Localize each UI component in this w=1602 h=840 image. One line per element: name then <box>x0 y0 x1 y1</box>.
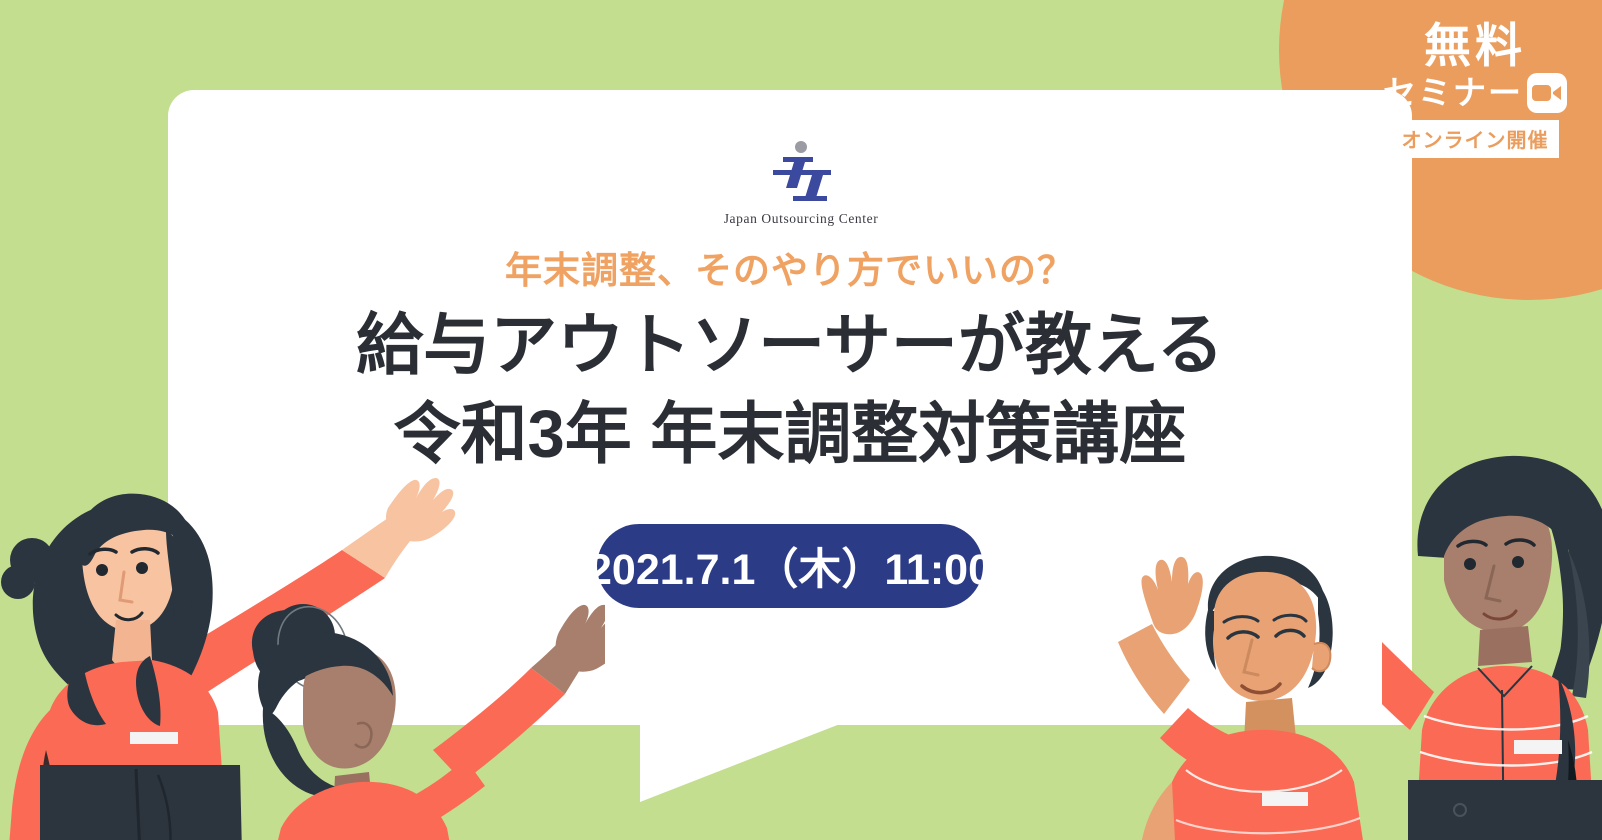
headline-block: 年末調整、そのやり方でいいの？ 給与アウトソーサーが教える 令和3年 年末調整対… <box>168 248 1412 479</box>
kicker-text: 年末調整、そのやり方でいいの？ <box>168 248 1412 294</box>
seminar-row: セミナー <box>1370 73 1580 113</box>
title-line-2: 令和3年 年末調整対策講座 <box>168 391 1412 479</box>
title-line-1: 給与アウトソーサーが教える <box>168 302 1412 390</box>
logo: Japan Outsourcing Center <box>0 140 1602 227</box>
background-green-left <box>0 0 168 840</box>
seminar-label: セミナー <box>1383 75 1523 111</box>
event-datetime-label: 2021.7.1（木）11:00 <box>588 535 992 597</box>
speech-bubble-tail <box>640 724 840 802</box>
event-datetime-pill: 2021.7.1（木）11:00 <box>597 524 983 608</box>
online-event-label: オンライン開催 <box>1392 120 1559 158</box>
video-camera-icon <box>1527 73 1567 113</box>
logo-company-name: Japan Outsourcing Center <box>0 211 1602 227</box>
seminar-banner: 無料 セミナー オンライン開催 Japan Outsourcing Cente <box>0 0 1602 840</box>
free-seminar-badge: 無料 セミナー オンライン開催 <box>1370 22 1580 158</box>
page-title: 給与アウトソーサーが教える 令和3年 年末調整対策講座 <box>168 302 1412 479</box>
free-label: 無料 <box>1370 22 1580 71</box>
japan-outsourcing-center-logo-mark <box>753 140 849 208</box>
